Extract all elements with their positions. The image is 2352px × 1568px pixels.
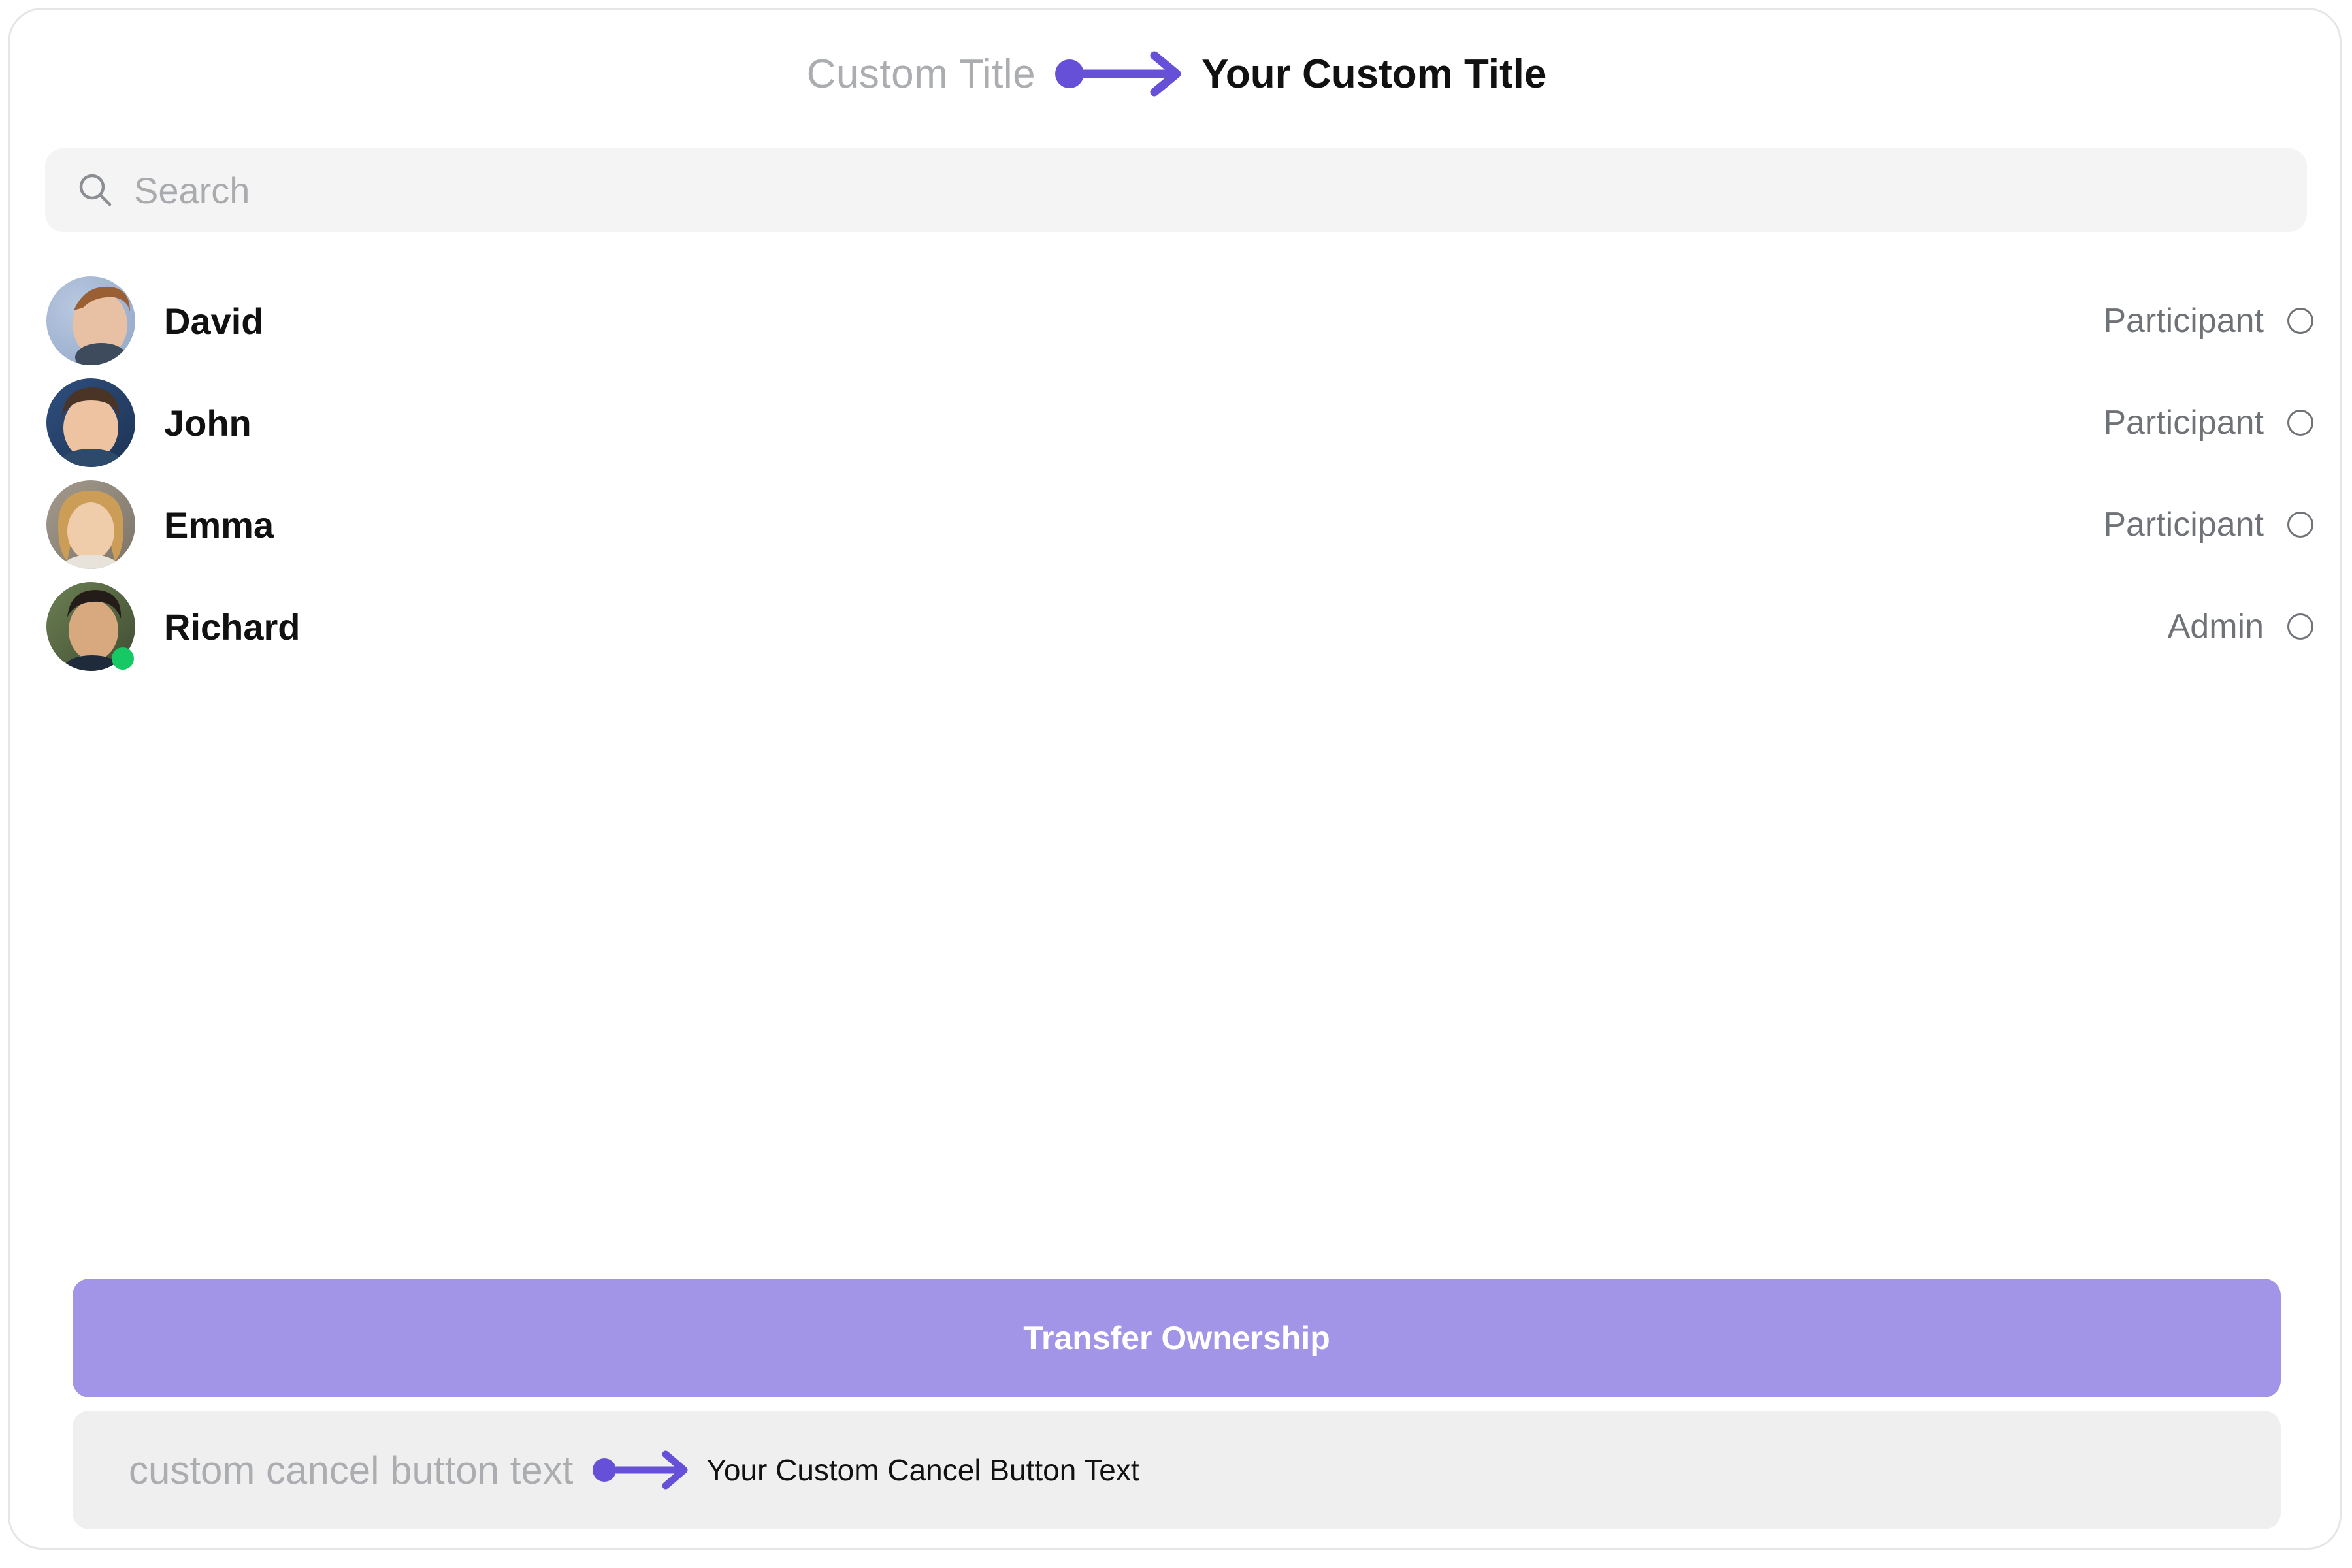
participant-role: Participant (2103, 403, 2264, 442)
avatar (46, 582, 135, 671)
search-field[interactable]: Search (45, 148, 2307, 232)
avatar-image-john (46, 378, 135, 467)
avatar-image-david (46, 276, 135, 365)
cancel-annotation-arrow (593, 1449, 691, 1491)
participant-name: John (164, 402, 252, 444)
title-annotation-arrow (1055, 48, 1186, 100)
online-status-indicator (112, 647, 134, 670)
cancel-button-placeholder: custom cancel button text (129, 1448, 573, 1493)
cancel-button-custom-value: Your Custom Cancel Button Text (706, 1452, 1139, 1488)
table-row[interactable]: David Participant (10, 270, 2342, 372)
participant-name: David (164, 300, 264, 342)
participant-select-radio[interactable] (2287, 410, 2313, 436)
search-input-placeholder[interactable]: Search (134, 169, 250, 212)
participant-select-radio[interactable] (2287, 308, 2313, 334)
avatar-image-emma (46, 480, 135, 569)
participant-select-radio[interactable] (2287, 613, 2313, 640)
dialog-title-placeholder: Custom Title (807, 51, 1036, 97)
avatar (46, 378, 135, 467)
participant-role: Admin (2168, 607, 2264, 646)
participant-list: David Participant (10, 270, 2342, 678)
transfer-ownership-dialog: Custom Title Your Custom Title Search (8, 8, 2342, 1550)
avatar (46, 480, 135, 569)
table-row[interactable]: Richard Admin (10, 576, 2342, 678)
dialog-title-custom-value: Your Custom Title (1201, 51, 1546, 97)
avatar (46, 276, 135, 365)
participant-role: Participant (2103, 505, 2264, 544)
table-row[interactable]: Emma Participant (10, 474, 2342, 576)
participant-role: Participant (2103, 301, 2264, 340)
transfer-ownership-button[interactable]: Transfer Ownership (73, 1279, 2281, 1397)
transfer-ownership-button-label: Transfer Ownership (1023, 1319, 1330, 1357)
cancel-button[interactable]: custom cancel button text Your Custom Ca… (73, 1411, 2281, 1529)
participant-select-radio[interactable] (2287, 512, 2313, 538)
table-row[interactable]: John Participant (10, 372, 2342, 474)
search-icon (76, 171, 114, 209)
dialog-title-row: Custom Title Your Custom Title (10, 35, 2342, 113)
participant-name: Richard (164, 606, 301, 648)
participant-name: Emma (164, 504, 274, 546)
app-screen: Custom Title Your Custom Title Search (0, 0, 2352, 1568)
